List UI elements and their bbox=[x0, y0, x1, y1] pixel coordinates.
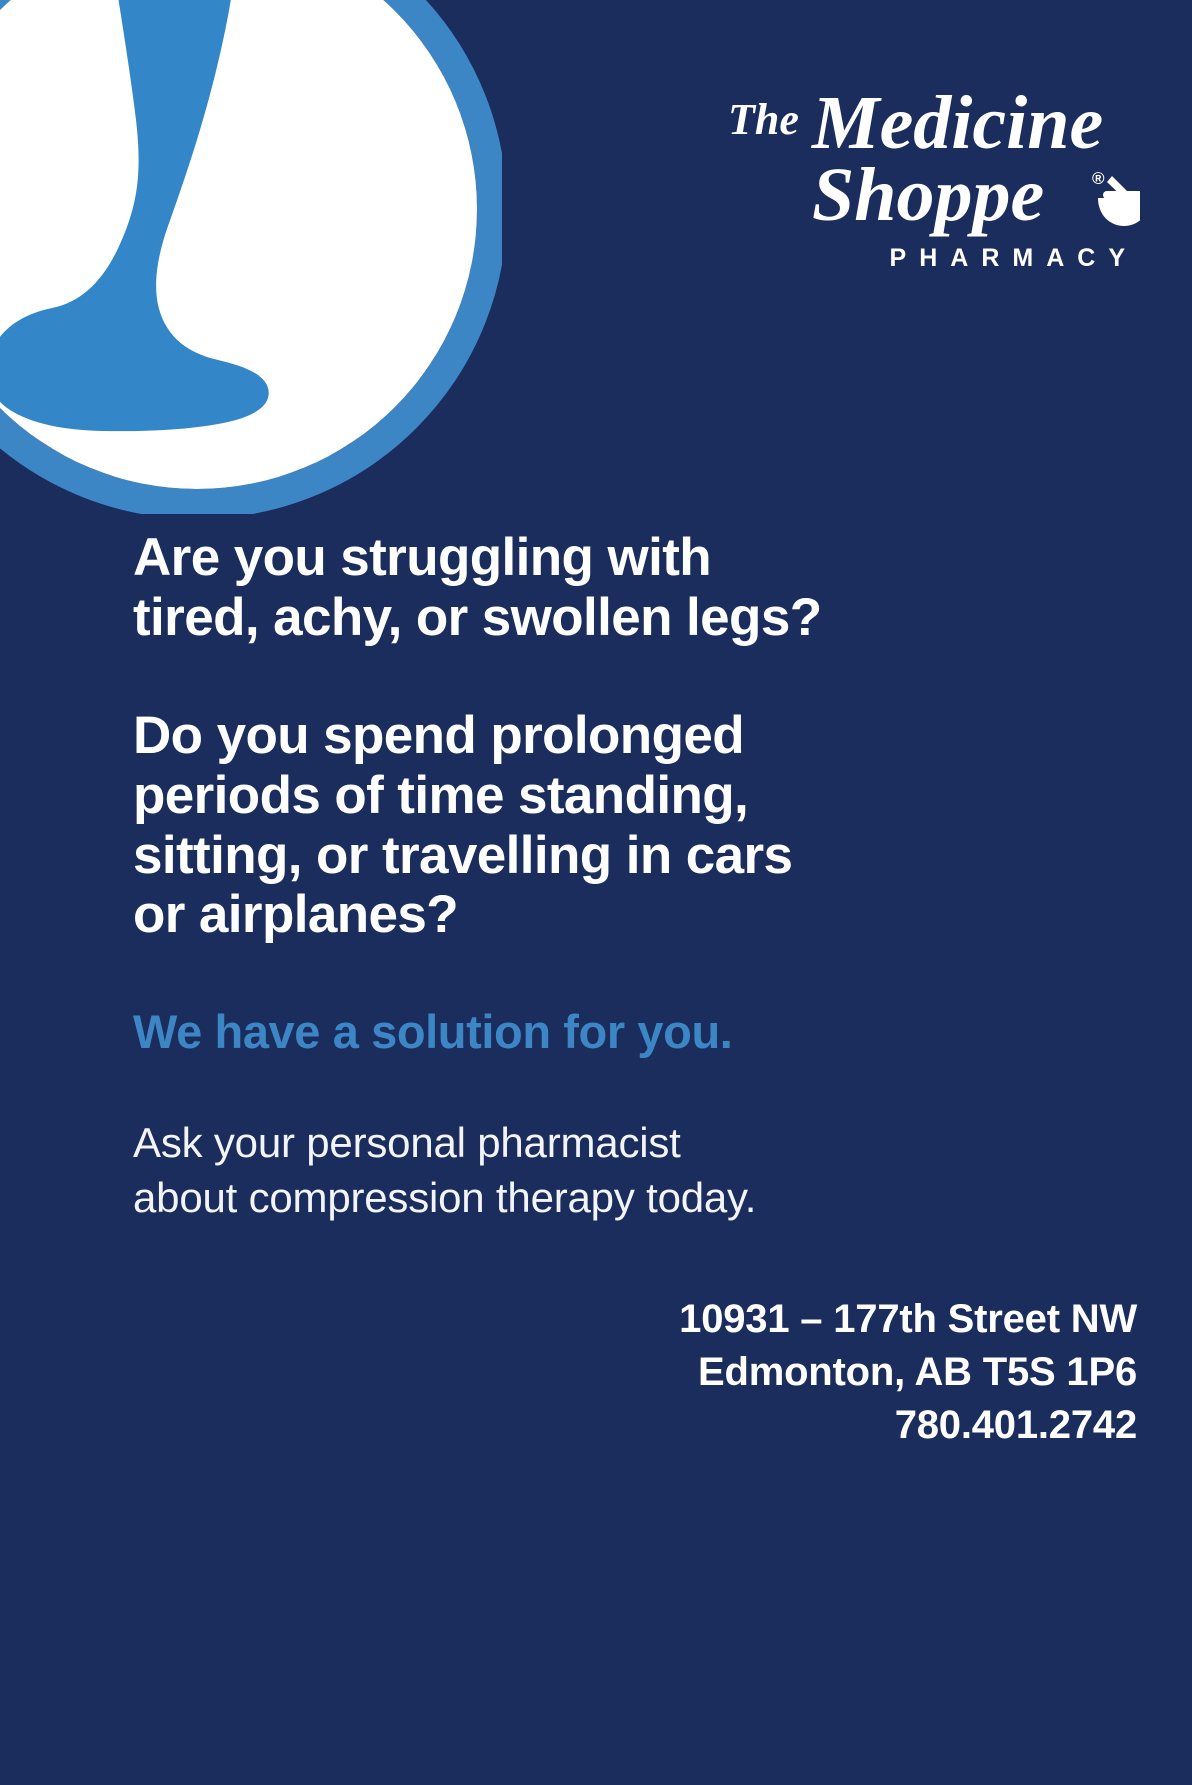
poster-content: Are you struggling with tired, achy, or … bbox=[133, 528, 1137, 1452]
logo-pharmacy-subtitle: PHARMACY bbox=[720, 246, 1140, 271]
headline-primary: Are you struggling with tired, achy, or … bbox=[133, 528, 1137, 648]
address-street: 10931 – 177th Street NW bbox=[133, 1293, 1137, 1346]
logo-shoppe-text: Shoppe bbox=[812, 153, 1044, 237]
logo-wordmark: The Medicine Shoppe ® bbox=[720, 72, 1140, 244]
leg-illustration bbox=[0, 0, 502, 514]
address-city-province-postal: Edmonton, AB T5S 1P6 bbox=[133, 1346, 1137, 1399]
logo-the-text: The bbox=[728, 95, 799, 144]
logo-registered-mark: ® bbox=[1092, 169, 1105, 188]
brand-logo: The Medicine Shoppe ® PHARMACY bbox=[720, 72, 1140, 271]
poster-canvas: The Medicine Shoppe ® PHARMACY Are you s… bbox=[0, 0, 1192, 1785]
body-copy: Ask your personal pharmacist about compr… bbox=[133, 1059, 1137, 1225]
address-block: 10931 – 177th Street NW Edmonton, AB T5S… bbox=[133, 1225, 1137, 1451]
phone-number: 780.401.2742 bbox=[133, 1399, 1137, 1452]
headline-secondary: Do you spend prolonged periods of time s… bbox=[133, 706, 1137, 946]
accent-tagline: We have a solution for you. bbox=[133, 945, 1137, 1059]
